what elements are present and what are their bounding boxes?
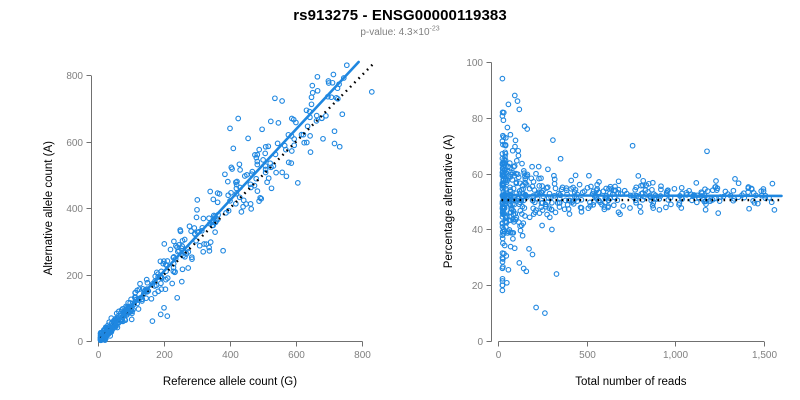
x-tick-label: 1,000 bbox=[663, 350, 688, 361]
y-tick-label: 600 bbox=[66, 138, 83, 149]
x-axis-title: Total number of reads bbox=[575, 376, 686, 388]
fit-line bbox=[101, 62, 359, 339]
x-axis-title: Reference allele count (G) bbox=[163, 376, 297, 388]
percentage-panel: 05001,0001,500020406080100Total number o… bbox=[400, 0, 800, 400]
y-tick-label: 400 bbox=[66, 204, 83, 215]
y-tick-label: 40 bbox=[472, 225, 484, 236]
x-tick-label: 0 bbox=[96, 350, 102, 361]
x-tick-label: 800 bbox=[354, 350, 371, 361]
y-tick-label: 0 bbox=[77, 337, 83, 348]
y-tick-label: 0 bbox=[477, 337, 483, 348]
x-tick-label: 1,500 bbox=[752, 350, 777, 361]
figure-container: rs913275 - ENSG00000119383 p-value: 4.3×… bbox=[0, 0, 800, 400]
y-tick-label: 200 bbox=[66, 271, 83, 282]
allele-count-plot-area: 02004006008000200400600800Reference alle… bbox=[0, 0, 400, 400]
y-axis-title: Alternative allele count (A) bbox=[43, 141, 55, 275]
y-tick-label: 800 bbox=[66, 71, 83, 82]
fit-line bbox=[502, 195, 782, 196]
x-tick-label: 0 bbox=[496, 350, 502, 361]
x-tick-label: 500 bbox=[579, 350, 596, 361]
y-tick-label: 100 bbox=[466, 58, 483, 69]
y-tick-label: 80 bbox=[472, 114, 484, 125]
y-axis-title: Percentage alternative (A) bbox=[443, 135, 455, 269]
x-tick-label: 600 bbox=[288, 350, 305, 361]
y-tick-label: 60 bbox=[472, 170, 484, 181]
allele-count-panel: 02004006008000200400600800Reference alle… bbox=[0, 0, 400, 400]
x-tick-label: 200 bbox=[156, 350, 173, 361]
percentage-plot-area: 05001,0001,500020406080100Total number o… bbox=[400, 0, 800, 400]
y-tick-label: 20 bbox=[472, 281, 484, 292]
x-tick-label: 400 bbox=[222, 350, 239, 361]
